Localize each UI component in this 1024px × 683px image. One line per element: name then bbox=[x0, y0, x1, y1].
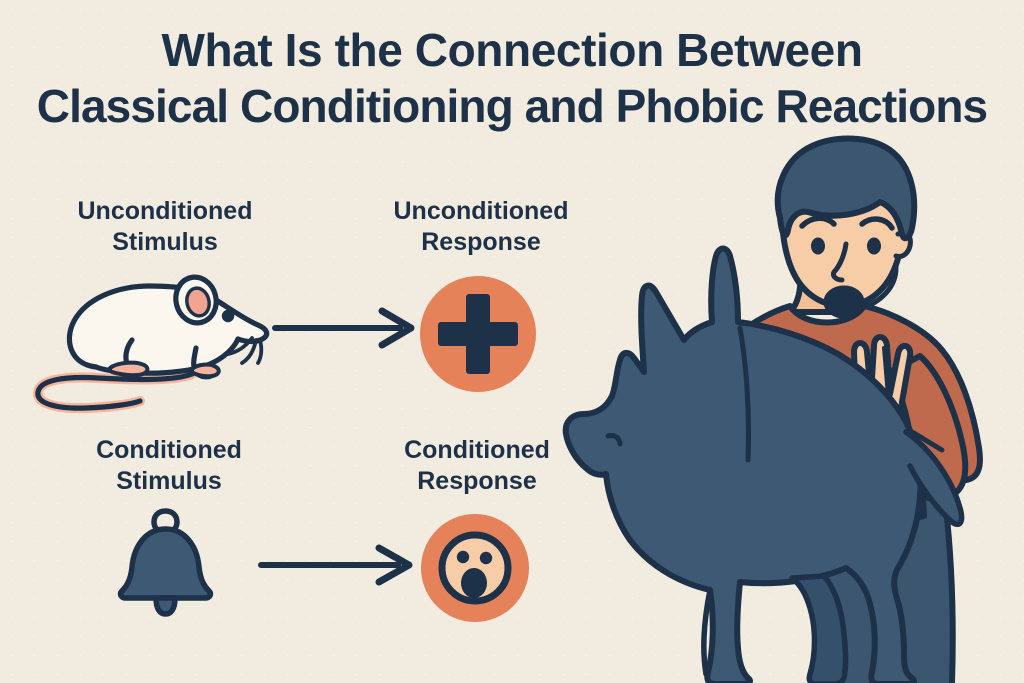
title-line-2: Classical Conditioning and Phobic Reacti… bbox=[0, 78, 1024, 134]
right-arrow-icon bbox=[258, 543, 418, 587]
bell-icon bbox=[113, 505, 218, 617]
infographic-canvas: What Is the Connection Between Classical… bbox=[0, 0, 1024, 683]
label-line-2: Stimulus bbox=[48, 466, 290, 497]
title-line-1: What Is the Connection Between bbox=[0, 22, 1024, 78]
label-unconditioned-stimulus: Unconditioned Stimulus bbox=[44, 196, 286, 258]
label-line-1: Unconditioned bbox=[44, 196, 286, 227]
label-conditioned-stimulus: Conditioned Stimulus bbox=[48, 435, 290, 497]
plus-sign-icon bbox=[419, 275, 537, 393]
label-line-1: Conditioned bbox=[48, 435, 290, 466]
frightened-face-icon bbox=[420, 513, 530, 623]
page-title: What Is the Connection Between Classical… bbox=[0, 22, 1024, 134]
label-line-2: Stimulus bbox=[44, 227, 286, 258]
white-rat-icon bbox=[24, 268, 274, 413]
frightened-man-with-dog-illustration bbox=[524, 150, 1024, 683]
right-arrow-icon bbox=[272, 305, 420, 351]
dog-silhouette bbox=[566, 249, 962, 683]
